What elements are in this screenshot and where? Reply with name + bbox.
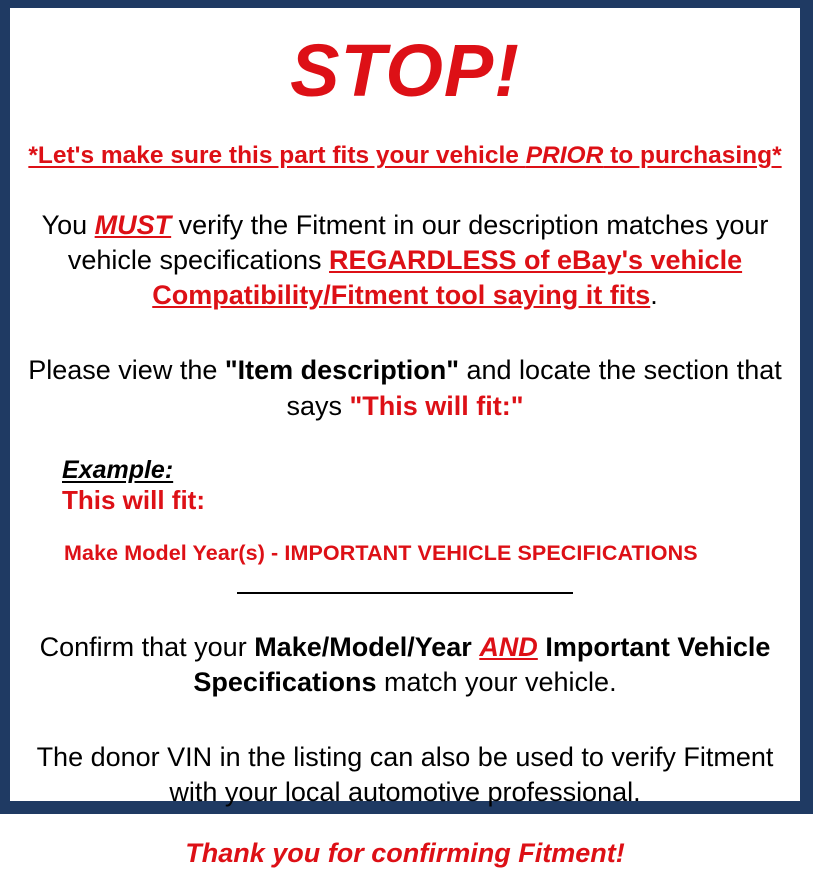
- paragraph-item-description: Please view the "Item description" and l…: [24, 353, 786, 423]
- confirm-seg-1: Confirm that your: [40, 632, 255, 662]
- divider-wrap: [24, 592, 786, 595]
- must-seg-1: You: [42, 210, 95, 240]
- example-block: Example: This will fit: Make Model Year(…: [24, 457, 786, 566]
- fitment-notice-card: STOP! *Let's make sure this part fits yo…: [0, 0, 813, 814]
- subtitle-text-before: *Let's make sure this part fits your veh…: [28, 142, 525, 169]
- thanks-message: Thank you for confirming Fitment!: [24, 837, 786, 869]
- paragraph-confirm-match: Confirm that your Make/Model/Year AND Im…: [24, 630, 786, 700]
- confirm-seg-4: match your vehicle.: [376, 667, 616, 697]
- must-emphasis-must: MUST: [95, 210, 172, 240]
- example-fit-heading: This will fit:: [62, 486, 786, 516]
- paragraph-donor-vin: The donor VIN in the listing can also be…: [24, 740, 786, 810]
- view-seg-1: Please view the: [28, 355, 225, 385]
- subtitle-line: *Let's make sure this part fits your veh…: [24, 142, 786, 170]
- view-emphasis-this-will-fit: "This will fit:": [349, 391, 523, 421]
- subtitle-emphasis-prior: PRIOR: [526, 142, 604, 169]
- subtitle-text-after: to purchasing*: [603, 142, 781, 169]
- must-seg-3: .: [650, 280, 658, 310]
- section-divider: [237, 592, 573, 594]
- notice-body: STOP! *Let's make sure this part fits yo…: [10, 8, 800, 801]
- example-label: Example:: [62, 457, 786, 485]
- paragraph-must-verify: You MUST verify the Fitment in our descr…: [24, 208, 786, 313]
- example-spec-line: Make Model Year(s) - IMPORTANT VEHICLE S…: [64, 541, 786, 566]
- confirm-emphasis-make-model-year: Make/Model/Year: [254, 632, 472, 662]
- view-emphasis-item-description: "Item description": [225, 355, 459, 385]
- stop-title: STOP!: [24, 34, 786, 108]
- confirm-emphasis-and: AND: [479, 632, 538, 662]
